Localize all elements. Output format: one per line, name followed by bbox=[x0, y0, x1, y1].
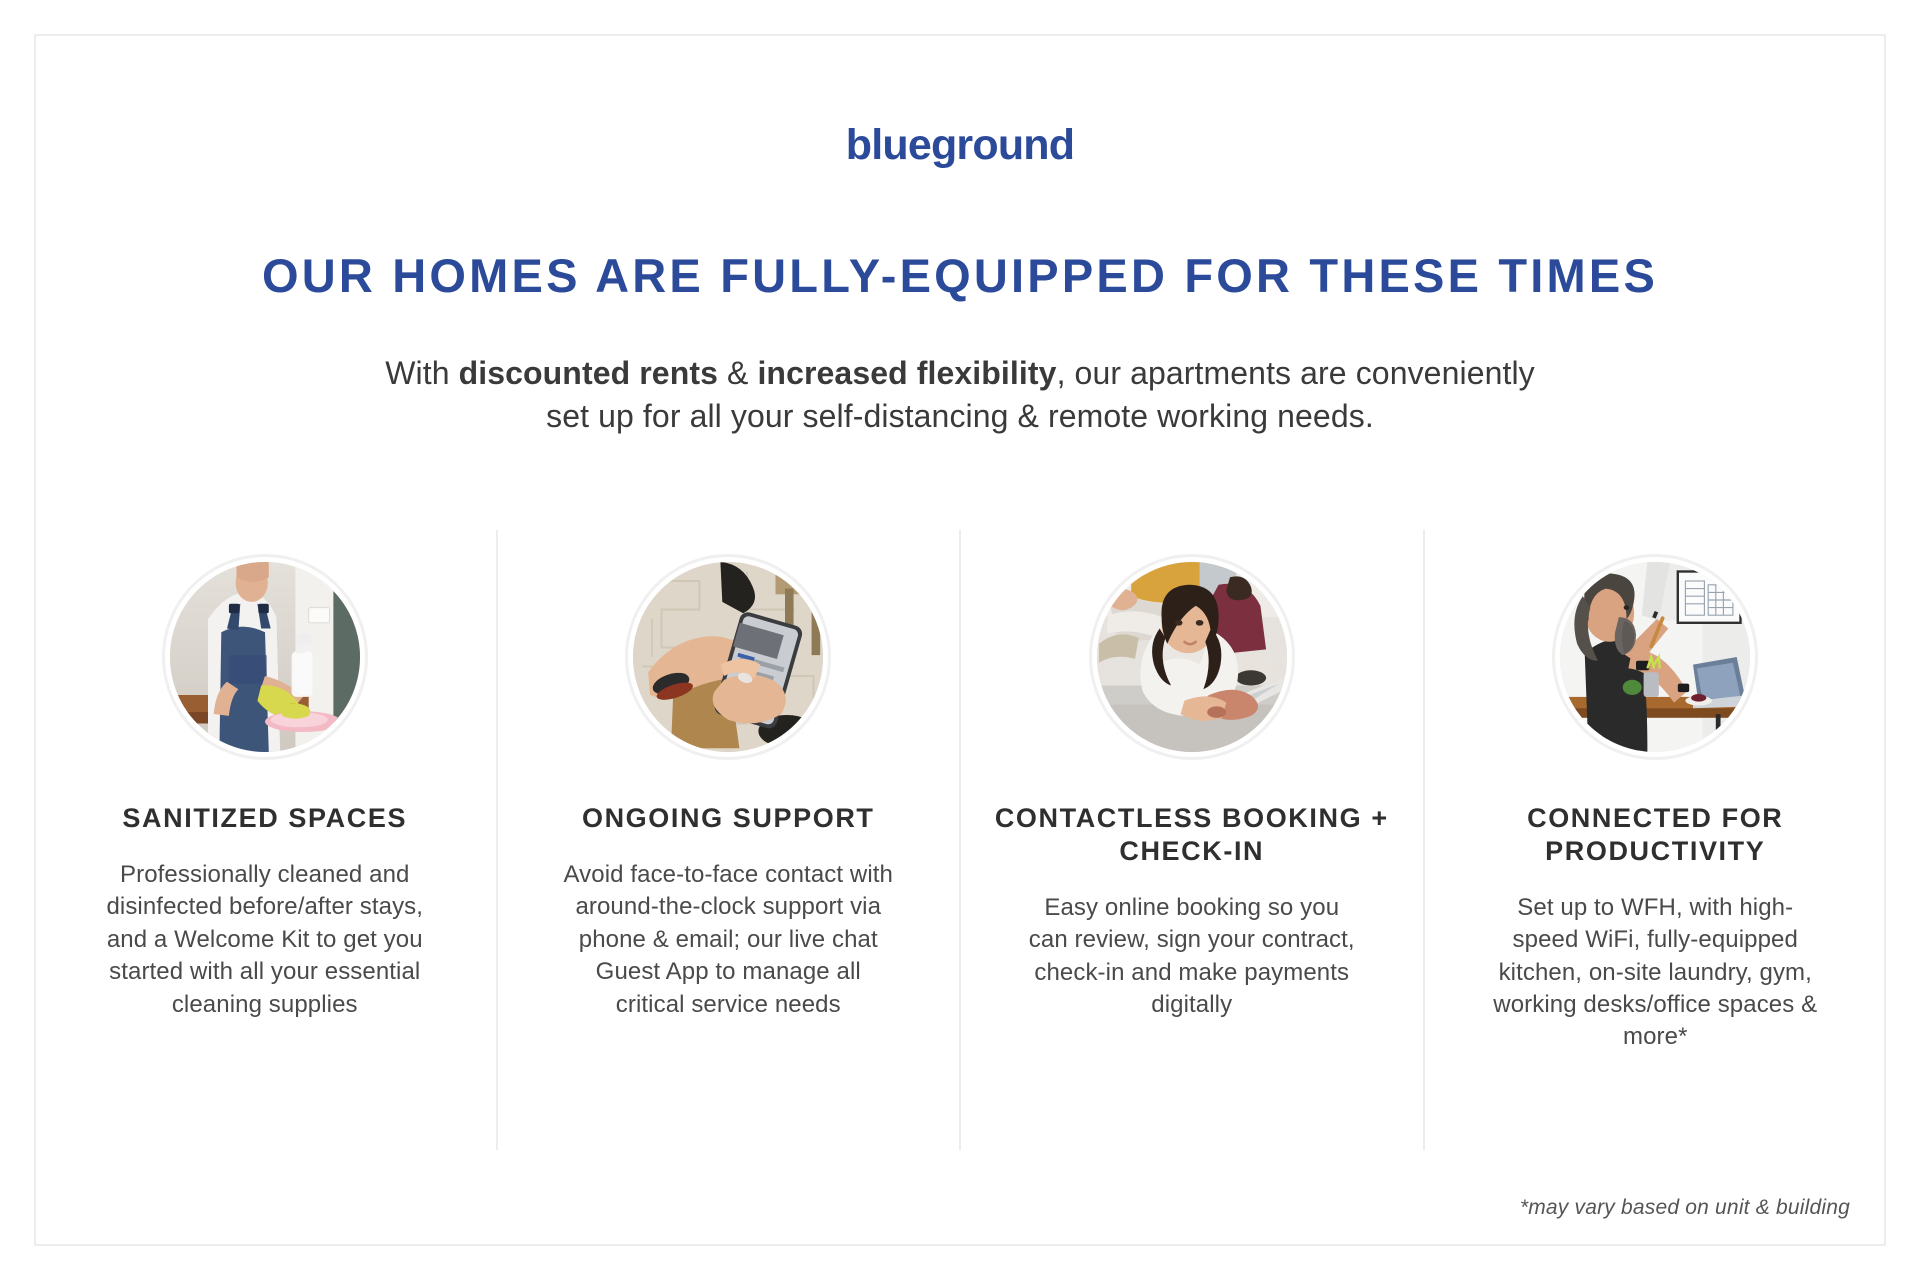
feature-column-connected-productivity: CONNECTED FOR PRODUCTIVITY Set up to WFH… bbox=[1423, 530, 1887, 1150]
column-title: ONGOING SUPPORT bbox=[582, 802, 875, 835]
subtitle-emphasis-2: increased flexibility bbox=[757, 355, 1056, 391]
desk-laptop-photo-frame bbox=[1552, 554, 1758, 760]
feature-column-contactless-booking: CONTACTLESS BOOKING + CHECK-IN Easy onli… bbox=[959, 530, 1423, 1150]
smartphone-photo-frame bbox=[625, 554, 831, 760]
column-body: Set up to WFH, with high-speed WiFi, ful… bbox=[1490, 892, 1820, 1054]
tablet-photo bbox=[1097, 562, 1287, 752]
column-body: Easy online booking so you can review, s… bbox=[1027, 892, 1357, 1022]
smartphone-photo bbox=[633, 562, 823, 752]
column-title: SANITIZED SPACES bbox=[122, 802, 407, 835]
feature-column-ongoing-support: ONGOING SUPPORT Avoid face-to-face conta… bbox=[496, 530, 960, 1150]
subtitle-text-1: With bbox=[385, 355, 458, 391]
column-title: CONNECTED FOR PRODUCTIVITY bbox=[1435, 802, 1877, 868]
poster-canvas: blueground OUR HOMES ARE FULLY-EQUIPPED … bbox=[0, 0, 1920, 1280]
column-body: Professionally cleaned and disinfected b… bbox=[100, 859, 430, 1021]
cleaning-photo-frame bbox=[162, 554, 368, 760]
subtitle-emphasis-1: discounted rents bbox=[459, 355, 718, 391]
blueground-logo: blueground bbox=[0, 124, 1920, 167]
feature-column-sanitized-spaces: SANITIZED SPACES Professionally cleaned … bbox=[34, 530, 496, 1150]
page-subtitle: With discounted rents & increased flexib… bbox=[360, 352, 1560, 438]
column-title: CONTACTLESS BOOKING + CHECK-IN bbox=[971, 802, 1413, 868]
footnote-disclaimer: *may vary based on unit & building bbox=[1520, 1196, 1850, 1220]
desk-laptop-photo bbox=[1560, 562, 1750, 752]
feature-columns: SANITIZED SPACES Professionally cleaned … bbox=[34, 530, 1886, 1150]
tablet-photo-frame bbox=[1089, 554, 1295, 760]
cleaning-photo bbox=[170, 562, 360, 752]
page-title: OUR HOMES ARE FULLY-EQUIPPED FOR THESE T… bbox=[0, 252, 1920, 299]
column-body: Avoid face-to-face contact with around-t… bbox=[563, 859, 893, 1021]
subtitle-text-2: & bbox=[718, 355, 757, 391]
